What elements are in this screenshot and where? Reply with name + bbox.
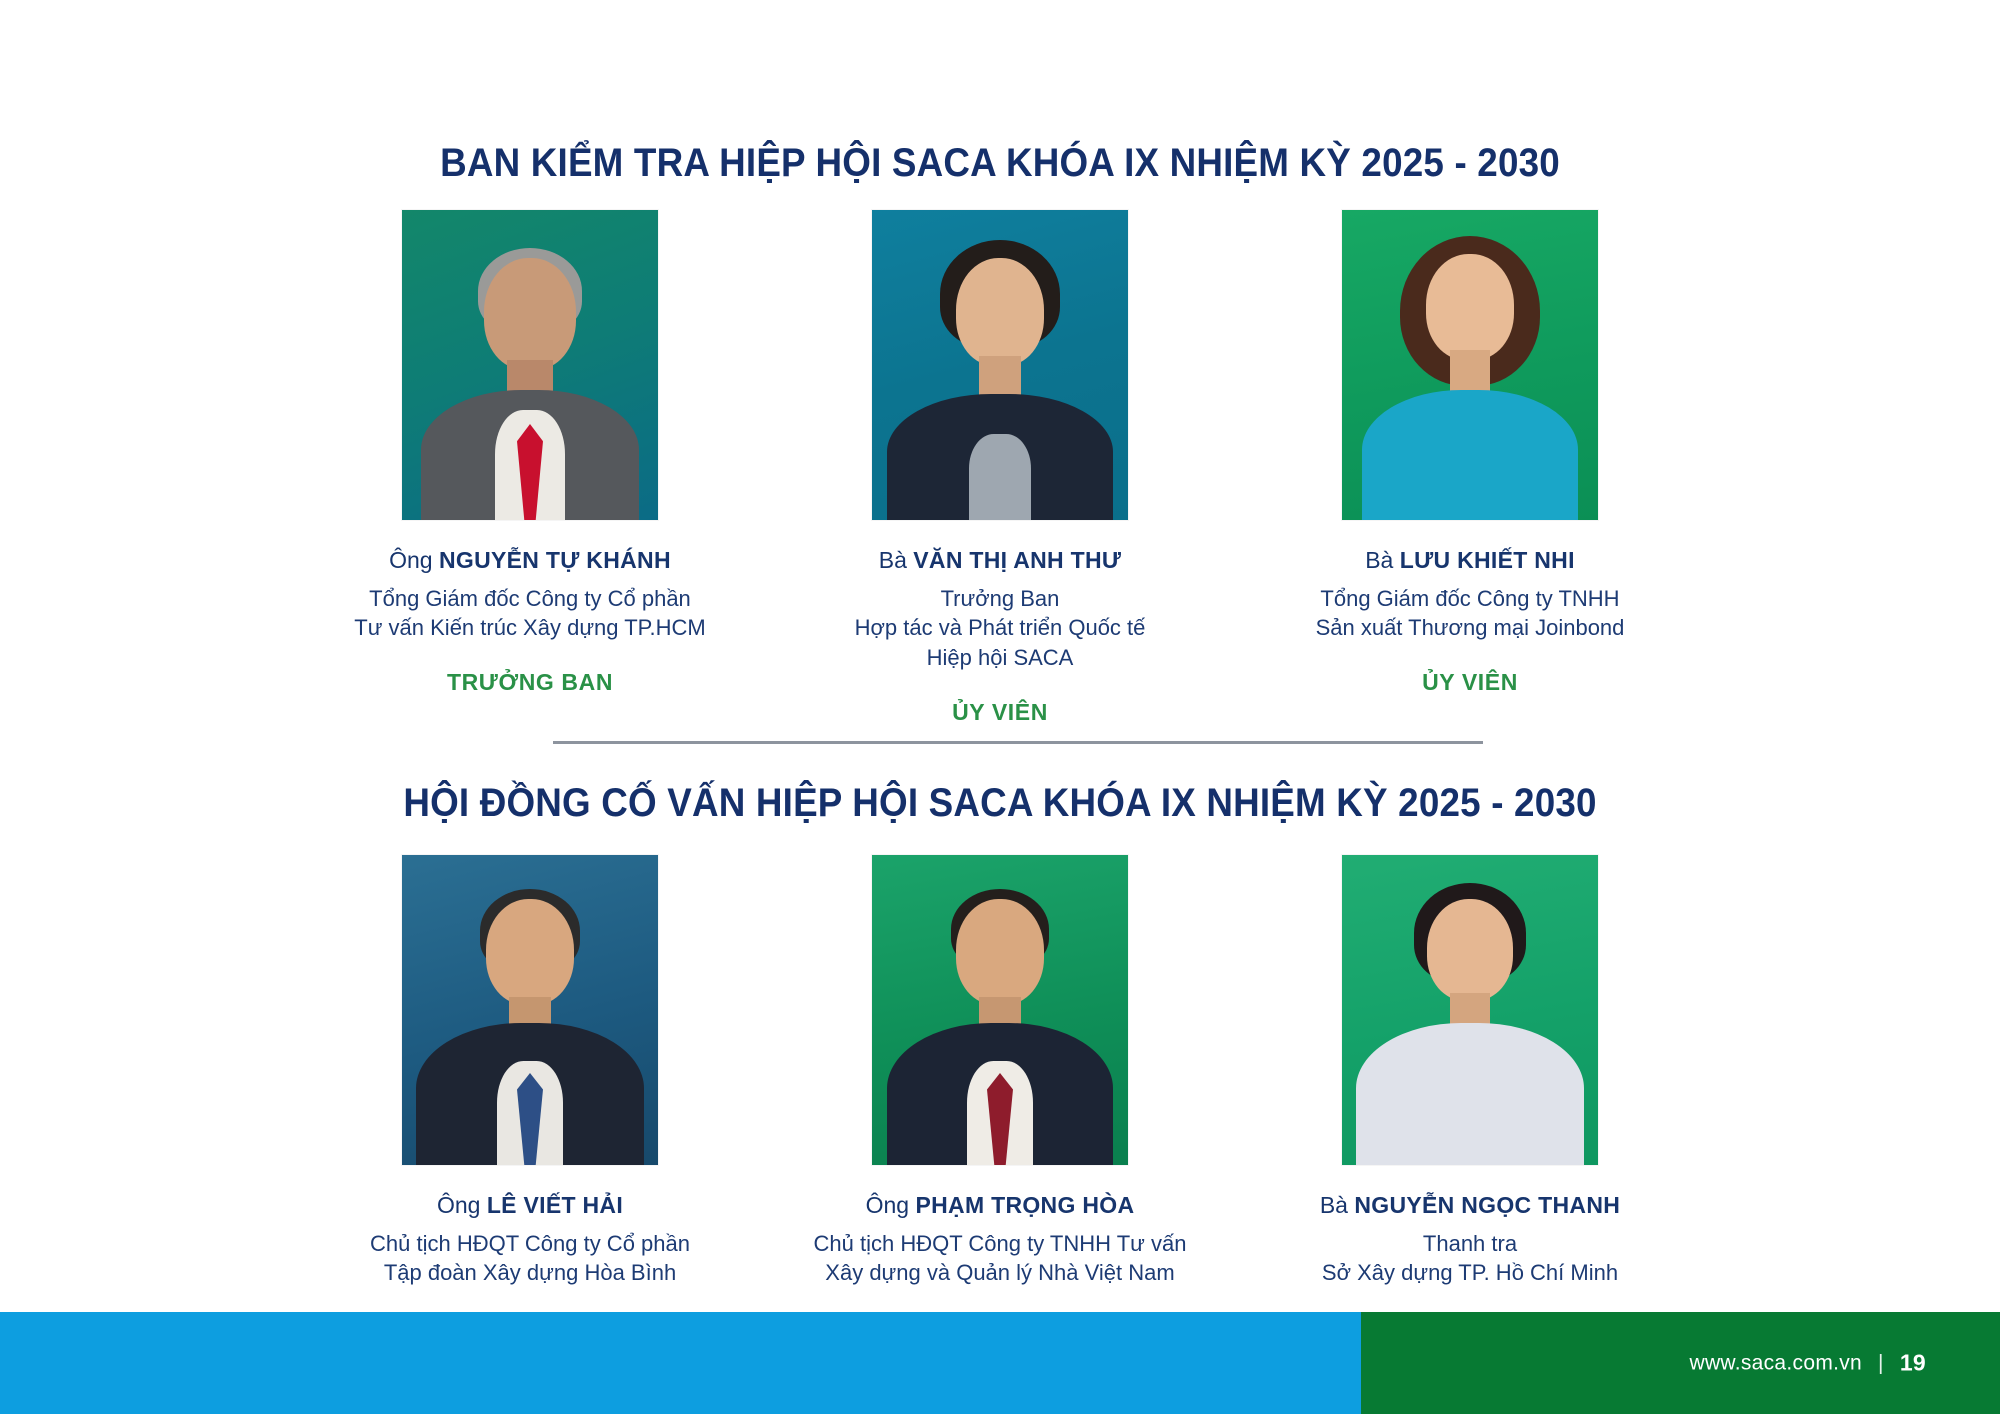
member-row-hoi-dong-co-van: Ông LÊ VIẾT HẢI Chủ tịch HĐQT Công ty Cổ… (0, 855, 2000, 1314)
member-fullname: LÊ VIẾT HẢI (487, 1192, 623, 1218)
section-divider (553, 741, 1483, 744)
member-organization: Chủ tịch HĐQT Công ty Cổ phần Tập đoàn X… (370, 1229, 690, 1288)
footer-content: www.saca.com.vn | 19 (1689, 1350, 1926, 1377)
member-organization: Chủ tịch HĐQT Công ty TNHH Tư vấn Xây dự… (814, 1229, 1187, 1288)
member-organization: Tổng Giám đốc Công ty Cổ phần Tư vấn Kiế… (354, 584, 705, 643)
footer-page-number: 19 (1900, 1350, 1926, 1377)
footer-separator: | (1878, 1351, 1884, 1375)
page-root: BAN KIỂM TRA HIỆP HỘI SACA KHÓA IX NHIỆM… (0, 0, 2000, 1414)
member-honorific: Bà (879, 547, 907, 573)
member-card: Bà NGUYỄN NGỌC THANH Thanh tra Sở Xây dự… (1235, 855, 1705, 1314)
member-photo (402, 855, 658, 1165)
member-honorific: Bà (1365, 547, 1393, 573)
member-honorific: Ông (389, 547, 432, 573)
member-organization: Tổng Giám đốc Công ty TNHH Sản xuất Thươ… (1316, 584, 1625, 643)
member-photo (872, 855, 1128, 1165)
member-card: Ông LÊ VIẾT HẢI Chủ tịch HĐQT Công ty Cổ… (295, 855, 765, 1314)
member-honorific: Ông (437, 1192, 480, 1218)
member-name: Ông PHẠM TRỌNG HÒA (866, 1191, 1135, 1220)
member-fullname: NGUYỄN NGỌC THANH (1354, 1192, 1620, 1218)
member-card: Bà VĂN THỊ ANH THƯ Trưởng Ban Hợp tác và… (765, 210, 1235, 726)
member-honorific: Bà (1320, 1192, 1348, 1218)
section-title-ban-kiem-tra: BAN KIỂM TRA HIỆP HỘI SACA KHÓA IX NHIỆM… (80, 141, 1920, 186)
member-role: ỦY VIÊN (952, 699, 1048, 726)
member-honorific: Ông (866, 1192, 909, 1218)
member-fullname: LƯU KHIẾT NHI (1400, 547, 1575, 573)
member-name: Bà NGUYỄN NGỌC THANH (1320, 1191, 1620, 1220)
member-fullname: NGUYỄN TỰ KHÁNH (439, 547, 671, 573)
member-photo (1342, 855, 1598, 1165)
member-organization: Thanh tra Sở Xây dựng TP. Hồ Chí Minh (1322, 1229, 1618, 1288)
member-name: Bà LƯU KHIẾT NHI (1365, 546, 1575, 575)
member-photo (402, 210, 658, 520)
member-photo (1342, 210, 1598, 520)
section-title-hoi-dong-co-van: HỘI ĐỒNG CỐ VẤN HIỆP HỘI SACA KHÓA IX NH… (80, 781, 1920, 826)
footer-website[interactable]: www.saca.com.vn (1689, 1351, 1862, 1375)
member-name: Ông NGUYỄN TỰ KHÁNH (389, 546, 671, 575)
footer-blue-band (0, 1312, 1361, 1414)
member-role: TRƯỞNG BAN (447, 669, 613, 696)
member-organization: Trưởng Ban Hợp tác và Phát triển Quốc tế… (855, 584, 1146, 673)
member-name: Ông LÊ VIẾT HẢI (437, 1191, 623, 1220)
member-fullname: VĂN THỊ ANH THƯ (913, 547, 1121, 573)
member-row-ban-kiem-tra: Ông NGUYỄN TỰ KHÁNH Tổng Giám đốc Công t… (0, 210, 2000, 726)
member-photo (872, 210, 1128, 520)
member-card: Ông NGUYỄN TỰ KHÁNH Tổng Giám đốc Công t… (295, 210, 765, 726)
member-role: ỦY VIÊN (1422, 669, 1518, 696)
member-fullname: PHẠM TRỌNG HÒA (916, 1192, 1135, 1218)
page-footer: www.saca.com.vn | 19 (0, 1312, 2000, 1414)
member-card: Bà LƯU KHIẾT NHI Tổng Giám đốc Công ty T… (1235, 210, 1705, 726)
member-name: Bà VĂN THỊ ANH THƯ (879, 546, 1122, 575)
member-card: Ông PHẠM TRỌNG HÒA Chủ tịch HĐQT Công ty… (765, 855, 1235, 1314)
